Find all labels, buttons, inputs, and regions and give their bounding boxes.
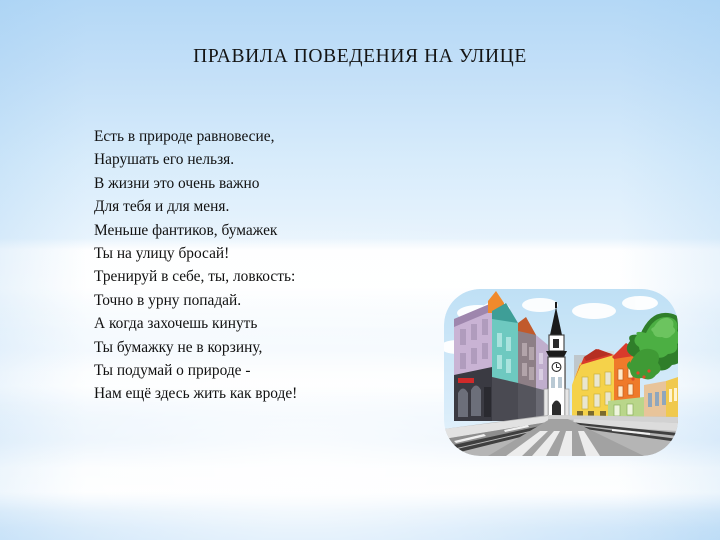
window <box>594 374 600 387</box>
poem-line: В жизни это очень важно <box>94 172 424 195</box>
window <box>628 384 633 395</box>
window <box>522 343 527 356</box>
poem-line: Меньше фантиков, бумажек <box>94 219 424 242</box>
poem-line: Для тебя и для меня. <box>94 195 424 218</box>
window <box>522 363 527 376</box>
window <box>471 348 477 364</box>
poem-block: Есть в природе равновесие, Нарушать его … <box>94 125 424 406</box>
window <box>582 377 588 390</box>
window <box>471 324 477 340</box>
shop-window <box>471 386 481 417</box>
window <box>618 369 623 380</box>
window <box>655 392 659 406</box>
clock-hand <box>557 367 560 368</box>
window <box>674 388 677 401</box>
window <box>482 319 488 335</box>
window <box>614 405 620 416</box>
window <box>482 343 488 359</box>
window <box>648 393 652 407</box>
shop-window <box>458 389 468 418</box>
page-title: ПРАВИЛА ПОВЕДЕНИЯ НА УЛИЦЕ <box>0 46 720 68</box>
berry <box>642 375 645 378</box>
window <box>582 396 588 409</box>
window <box>618 386 623 397</box>
clock-hand <box>556 364 557 368</box>
window <box>529 347 534 360</box>
window <box>497 355 502 369</box>
berry <box>647 369 650 372</box>
church-annex <box>565 389 569 419</box>
poem-line: Ты на улицу бросай! <box>94 242 424 265</box>
shopfront-left <box>518 383 536 421</box>
window <box>539 369 543 380</box>
poem-line: Ты подумай о природе - <box>94 359 424 382</box>
church-cross <box>555 302 557 308</box>
church-annex <box>544 389 548 419</box>
street-illustration <box>444 289 678 456</box>
poem-line: Тренируй в себе, ты, ловкость: <box>94 265 424 288</box>
window <box>529 367 534 380</box>
window <box>506 359 511 373</box>
poem-line: А когда захочешь кинуть <box>94 312 424 335</box>
window <box>558 377 562 388</box>
shop-door <box>484 387 491 417</box>
shop-sign <box>458 378 474 383</box>
window <box>506 337 511 351</box>
window <box>551 377 555 388</box>
window <box>460 329 466 345</box>
poem-line: Ты бумажку не в корзину, <box>94 336 424 359</box>
berry <box>631 377 634 380</box>
slide: ПРАВИЛА ПОВЕДЕНИЯ НА УЛИЦЕ Есть в природ… <box>0 0 720 540</box>
window <box>594 394 600 407</box>
poem-line: Нам ещё здесь жить как вроде! <box>94 382 424 405</box>
window <box>497 333 502 347</box>
window <box>627 404 633 415</box>
berry <box>636 371 639 374</box>
poem-line: Точно в урну попадай. <box>94 289 424 312</box>
shopfront-left <box>492 377 518 421</box>
poem-line: Нарушать его нельзя. <box>94 148 424 171</box>
church-roof <box>546 351 567 357</box>
belfry-opening <box>553 339 559 348</box>
window <box>605 372 611 385</box>
window <box>460 353 466 369</box>
window <box>669 389 672 402</box>
window <box>539 353 543 364</box>
window <box>662 391 666 405</box>
poem-line: Есть в природе равновесие, <box>94 125 424 148</box>
